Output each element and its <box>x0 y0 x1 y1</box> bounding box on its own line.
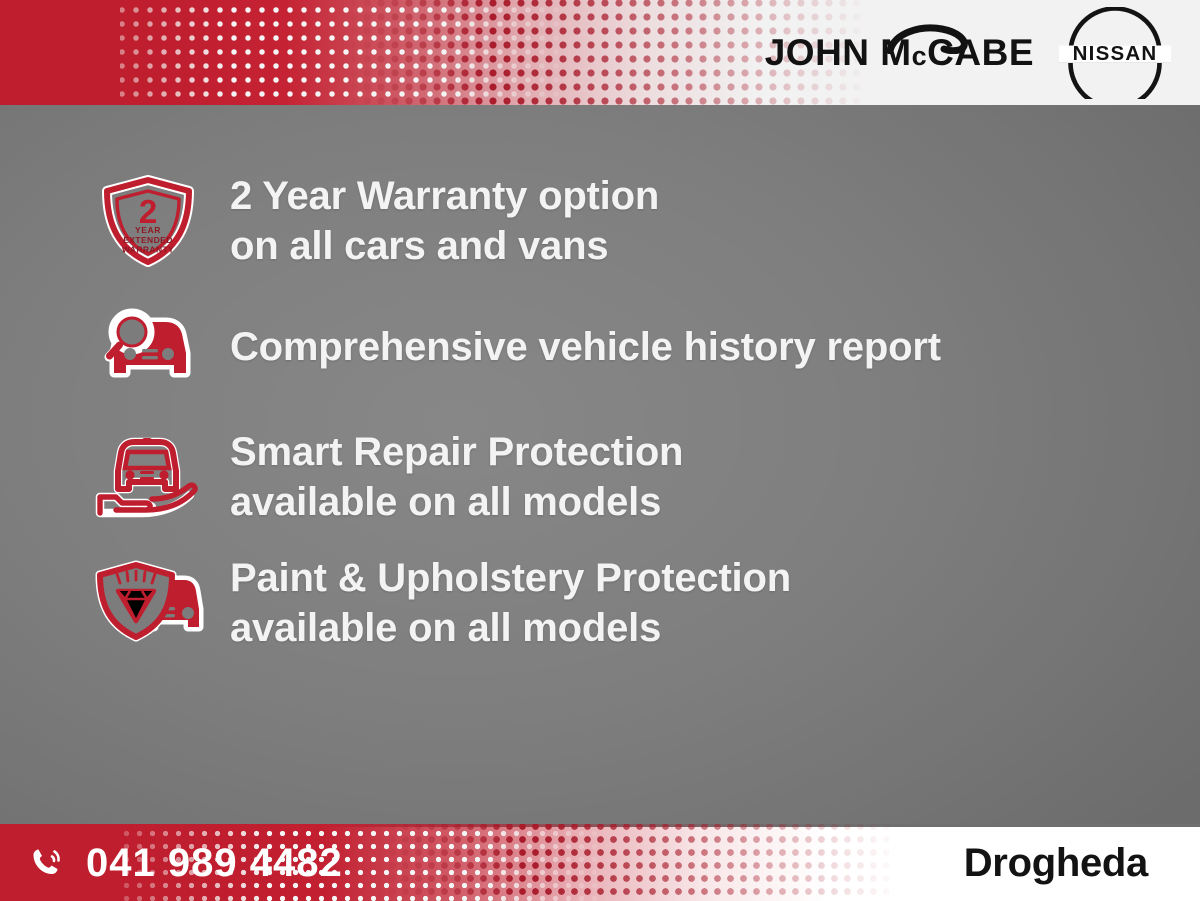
feature-item-smart-repair: Smart Repair Protection available on all… <box>92 427 1200 527</box>
shield-warranty-icon: 2 YEAR EXTENDED WARRANTY <box>92 171 204 271</box>
promotional-poster: JOHN McCABE NISSAN <box>0 0 1200 901</box>
feature-item-warranty: 2 YEAR EXTENDED WARRANTY 2 Year Warranty… <box>92 171 1200 271</box>
footer-bar: 041 989 4482 Drogheda <box>0 824 1200 901</box>
shield-line-2: EXTENDED <box>123 235 173 245</box>
header-bar: JOHN McCABE NISSAN <box>0 0 1200 105</box>
shield-line-3: WARRANTY <box>122 245 174 255</box>
car-magnifier-icon <box>92 297 204 397</box>
svg-text:NISSAN: NISSAN <box>1073 42 1158 65</box>
shield-line-1: YEAR <box>135 225 161 235</box>
header-branding: JOHN McCABE NISSAN <box>765 0 1174 105</box>
halftone-red-dots <box>0 0 870 105</box>
feature-label-smart-repair: Smart Repair Protection available on all… <box>230 427 683 527</box>
feature-item-history-report: Comprehensive vehicle history report <box>92 297 1200 397</box>
car-on-hand-icon <box>92 427 204 527</box>
header-halftone-pattern <box>0 0 870 105</box>
dealer-wordmark: JOHN McCABE <box>765 34 1034 71</box>
dealer-name-rest: CABE <box>927 32 1034 73</box>
phone-ringing-icon <box>28 843 68 883</box>
dealer-name-main: JOHN M <box>765 32 912 73</box>
header-red-block <box>0 0 120 105</box>
shield-diamond-car-icon <box>92 553 204 653</box>
feature-item-paint-protection: Paint & Upholstery Protection available … <box>92 553 1200 653</box>
feature-label-warranty: 2 Year Warranty option on all cars and v… <box>230 171 659 271</box>
dealer-name-small-c: c <box>912 41 928 71</box>
phone-contact[interactable]: 041 989 4482 <box>28 843 343 883</box>
feature-label-paint-protection: Paint & Upholstery Protection available … <box>230 553 791 653</box>
feature-list-panel: 2 YEAR EXTENDED WARRANTY 2 Year Warranty… <box>0 105 1200 824</box>
feature-label-history-report: Comprehensive vehicle history report <box>230 322 941 372</box>
nissan-logo: NISSAN <box>1056 7 1174 99</box>
feature-list: 2 YEAR EXTENDED WARRANTY 2 Year Warranty… <box>0 105 1200 653</box>
phone-number: 041 989 4482 <box>86 843 343 883</box>
dealership-location: Drogheda <box>964 843 1148 883</box>
